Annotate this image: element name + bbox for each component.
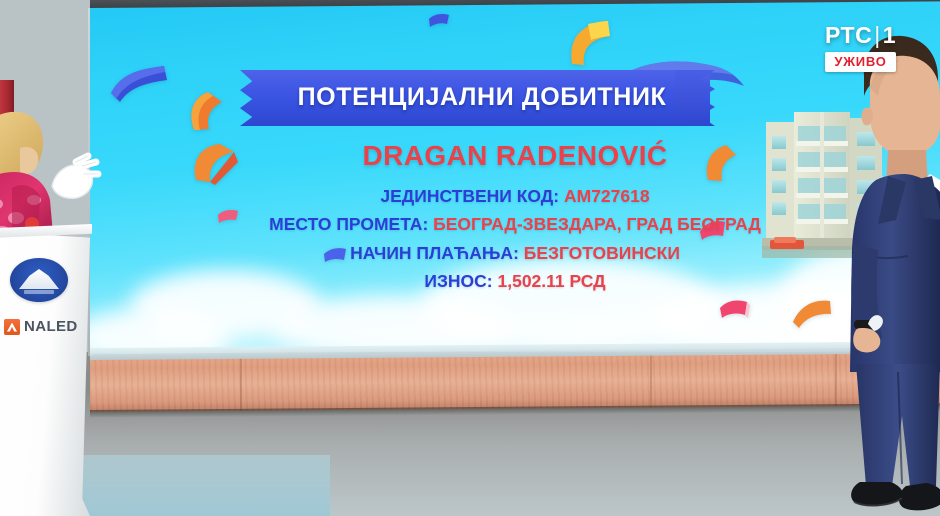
info-row-value: 1,502.11 РСД <box>498 271 606 291</box>
banner-potential-winner: ПОТЕНЦИЈАЛНИ ДОБИТНИК <box>240 70 710 126</box>
confetti-yellow-arc-icon <box>566 18 614 68</box>
confetti-orange-ribbon-icon <box>790 296 834 330</box>
channel-logo-row: РТС|1 <box>825 24 896 47</box>
info-row-value: БЕОГРАД-ЗВЕЗДАРА, ГРАД БЕОГРАД <box>433 214 761 234</box>
naled-logo: NALED <box>4 318 78 335</box>
info-row-label: НАЧИН ПЛАЋАЊА: <box>350 243 519 263</box>
confetti-blue-chip-icon <box>428 12 450 28</box>
confetti-orange-ribbon-icon <box>186 88 232 132</box>
live-badge: УЖИВО <box>825 52 895 72</box>
info-row-label: ИЗНОС: <box>424 271 492 291</box>
info-row-label: МЕСТО ПРОМЕТА: <box>269 214 428 234</box>
naled-logo-text: NALED <box>24 318 78 335</box>
info-row-value: AM727618 <box>564 186 650 206</box>
presenter-right-man <box>848 24 940 516</box>
info-row-value: БЕЗГОТОВИНСКИ <box>524 243 680 263</box>
channel-name: РТС <box>825 22 872 48</box>
banner-title: ПОТЕНЦИЈАЛНИ ДОБИТНИК <box>240 70 710 126</box>
channel-logo: РТС|1 УЖИВО <box>825 24 896 72</box>
info-row-label: ЈЕДИНСТВЕНИ КОД: <box>380 186 559 206</box>
channel-number: 1 <box>883 22 896 48</box>
naled-mark-icon <box>4 319 20 335</box>
broadcast-frame: ПОТЕНЦИЈАЛНИ ДОБИТНИК DRAGAN RADENOVIĆ Ј… <box>0 0 940 516</box>
government-emblem-icon <box>10 258 68 302</box>
info-row: ИЗНОС: 1,502.11 РСД <box>90 267 940 295</box>
confetti-pink-chip-icon <box>718 298 750 320</box>
confetti-blue-ribbon-icon <box>108 63 170 105</box>
channel-separator: | <box>874 22 880 48</box>
presenter-left-woman <box>0 96 108 246</box>
desk-front-panel <box>90 353 940 412</box>
